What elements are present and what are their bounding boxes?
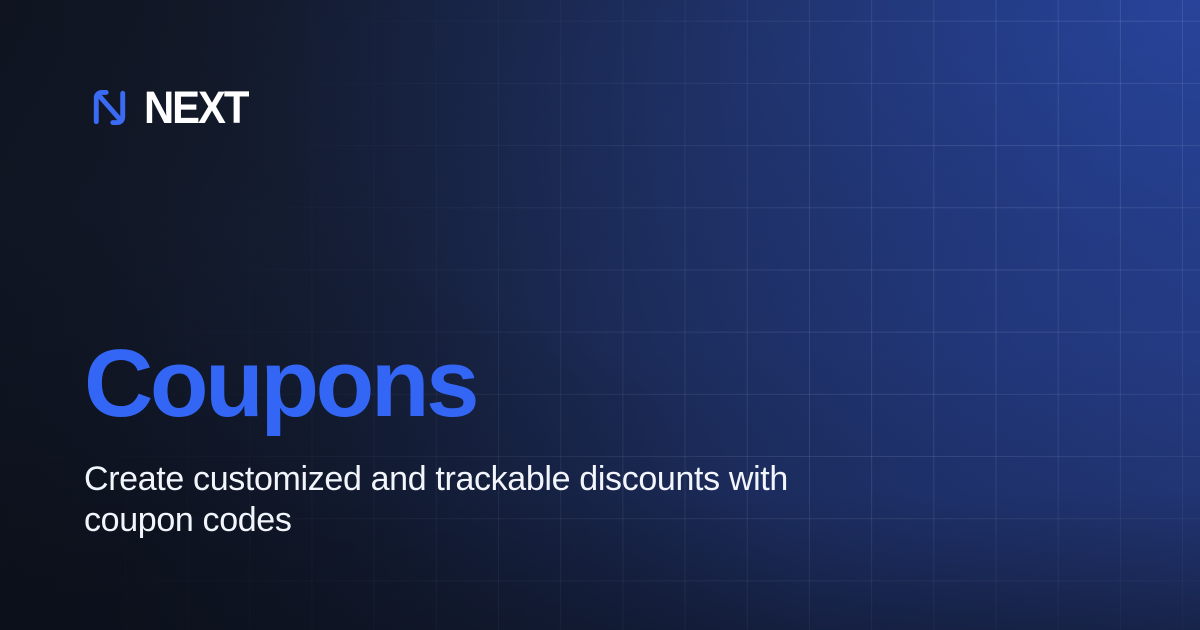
page-title: Coupons [84,336,984,432]
brand-lockup[interactable]: NEXT [86,84,255,131]
og-social-card: NEXT Coupons Create customized and track… [0,0,1200,630]
page-subtitle: Create customized and trackable discount… [84,432,844,541]
hero-text-block: Coupons Create customized and trackable … [84,336,984,541]
card-content: NEXT Coupons Create customized and track… [0,0,1200,630]
next-logo-n-mark-icon [86,84,133,131]
brand-wordmark: NEXT [144,85,247,130]
